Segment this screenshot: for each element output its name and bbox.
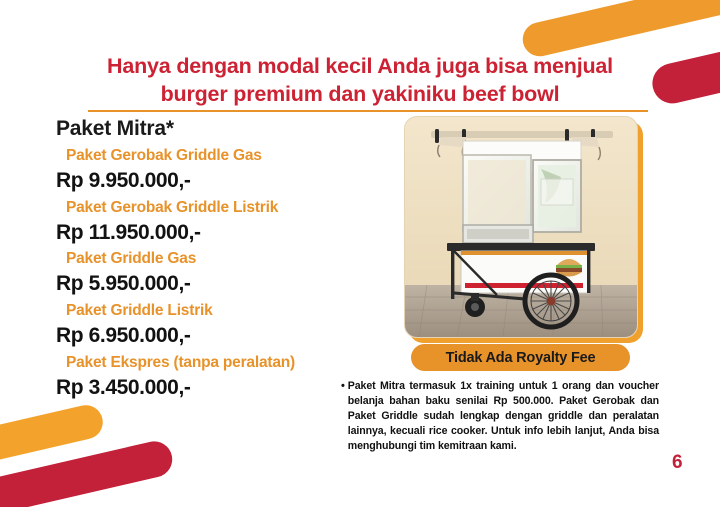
package-item: Paket Griddle Listrik Rp 6.950.000,- [56, 300, 386, 350]
package-name: Paket Griddle Listrik [56, 300, 386, 322]
headline-divider [88, 110, 648, 112]
package-price: Rp 5.950.000,- [56, 270, 386, 298]
package-price: Rp 6.950.000,- [56, 322, 386, 350]
product-photo-frame [404, 116, 638, 338]
package-name: Paket Griddle Gas [56, 248, 386, 270]
package-list: Paket Mitra* Paket Gerobak Griddle Gas R… [56, 117, 386, 404]
headline-line-2: burger premium dan yakiniku beef bowl [60, 80, 660, 108]
page-title: Paket Mitra* [56, 117, 386, 141]
package-price: Rp 3.450.000,- [56, 374, 386, 402]
food-cart-photo [404, 116, 638, 338]
package-name: Paket Gerobak Griddle Gas [56, 145, 386, 167]
package-name: Paket Gerobak Griddle Listrik [56, 197, 386, 219]
package-item: Paket Ekspres (tanpa peralatan) Rp 3.450… [56, 352, 386, 402]
status-badge: Tidak Ada Royalty Fee [411, 344, 630, 371]
slide-canvas: Hanya dengan modal kecil Anda juga bisa … [0, 0, 720, 507]
package-item: Paket Gerobak Griddle Gas Rp 9.950.000,- [56, 145, 386, 195]
fineprint-note: • Paket Mitra termasuk 1x training untuk… [341, 379, 659, 454]
headline-line-1: Hanya dengan modal kecil Anda juga bisa … [60, 52, 660, 80]
badge-label: Tidak Ada Royalty Fee [446, 350, 596, 366]
decoration-bar-top-right-orange [519, 0, 720, 60]
package-price: Rp 9.950.000,- [56, 167, 386, 195]
slide-headline: Hanya dengan modal kecil Anda juga bisa … [60, 52, 660, 109]
package-name: Paket Ekspres (tanpa peralatan) [56, 352, 386, 374]
bullet-icon: • [341, 379, 345, 454]
food-cart-illustration [405, 117, 637, 337]
page-number: 6 [672, 452, 683, 474]
fineprint-text: Paket Mitra termasuk 1x training untuk 1… [348, 379, 659, 454]
package-item: Paket Griddle Gas Rp 5.950.000,- [56, 248, 386, 298]
package-item: Paket Gerobak Griddle Listrik Rp 11.950.… [56, 197, 386, 247]
package-price: Rp 11.950.000,- [56, 219, 386, 247]
